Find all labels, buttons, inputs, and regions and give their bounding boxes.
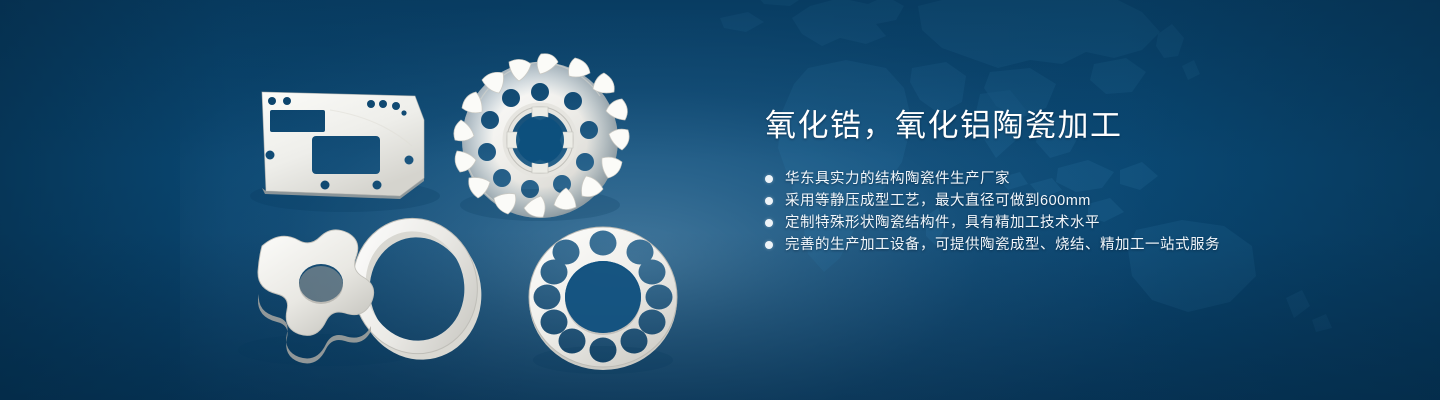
page-title: 氧化锆，氧化铝陶瓷加工	[765, 106, 1385, 146]
list-item: 采用等静压成型工艺，最大直径可做到600mm	[765, 190, 1385, 212]
ceramic-plate-part	[262, 92, 424, 199]
list-item: 定制特殊形状陶瓷结构件，具有精加工技术水平	[765, 212, 1385, 234]
bullet-dot-icon	[765, 241, 773, 249]
list-item: 完善的生产加工设备，可提供陶瓷成型、烧结、精加工一站式服务	[765, 234, 1385, 256]
banner-copy: 氧化锆，氧化铝陶瓷加工 华东具实力的结构陶瓷件生产厂家 采用等静压成型工艺，最大…	[765, 106, 1385, 256]
feature-list: 华东具实力的结构陶瓷件生产厂家 采用等静压成型工艺，最大直径可做到600mm 定…	[765, 168, 1385, 256]
list-item: 华东具实力的结构陶瓷件生产厂家	[765, 168, 1385, 190]
bullet-dot-icon	[765, 175, 773, 183]
hero-banner: 氧化锆，氧化铝陶瓷加工 华东具实力的结构陶瓷件生产厂家 采用等静压成型工艺，最大…	[0, 0, 1440, 400]
bullet-dot-icon	[765, 219, 773, 227]
feature-text: 定制特殊形状陶瓷结构件，具有精加工技术水平	[785, 212, 1100, 234]
ceramic-impeller-part	[454, 54, 629, 218]
feature-text: 完善的生产加工设备，可提供陶瓷成型、烧结、精加工一站式服务	[785, 234, 1220, 256]
feature-text: 采用等静压成型工艺，最大直径可做到600mm	[785, 190, 1091, 212]
ceramic-products-image	[0, 0, 730, 400]
ceramic-perforated-disc-part	[529, 227, 677, 370]
feature-text: 华东具实力的结构陶瓷件生产厂家	[785, 168, 1010, 190]
bullet-dot-icon	[765, 197, 773, 205]
